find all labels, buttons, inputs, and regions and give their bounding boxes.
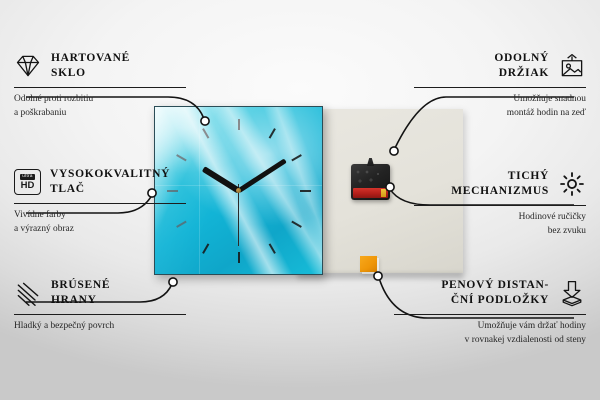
clock-tick bbox=[300, 190, 311, 192]
mechanism-hanger bbox=[364, 158, 377, 166]
picture-hanger-icon bbox=[558, 52, 586, 80]
divider bbox=[394, 314, 586, 315]
feature-hardened-glass: HARTOVANÉ SKLO Odolné proti rozbitiu a p… bbox=[14, 50, 186, 120]
feature-header: ODOLNÝ DRŽIAK bbox=[414, 50, 586, 82]
clock-tick bbox=[238, 119, 240, 130]
feature-header: HARTOVANÉ SKLO bbox=[14, 50, 186, 82]
foam-spacer-pad bbox=[360, 256, 377, 272]
feature-description: Odolné proti rozbitiu a poškrabaniu bbox=[14, 93, 186, 120]
infographic-canvas: HARTOVANÉ SKLO Odolné proti rozbitiu a p… bbox=[0, 0, 600, 400]
feature-title: VYSOKOKVALITNÝ TLAČ bbox=[50, 167, 170, 196]
ultra-hd-badge-icon: ultra HD bbox=[14, 169, 41, 195]
feature-title: TICHÝ MECHANIZMUS bbox=[451, 169, 549, 198]
feature-header: ultra HD VYSOKOKVALITNÝ TLAČ bbox=[14, 166, 186, 198]
feature-description: Vivídne farby a výrazný obraz bbox=[14, 209, 186, 236]
gear-icon bbox=[558, 170, 586, 198]
feature-header: BRÚSENÉ HRANY bbox=[14, 277, 186, 309]
feature-foam-spacers: PENOVÝ DISTAN- ČNÍ PODLOŽKY Umožňuje vám… bbox=[394, 277, 586, 347]
feature-description: Umožňuje vám držať hodiny v rovnakej vzd… bbox=[394, 320, 586, 347]
feature-description: Hodinové ručičky bez zvuku bbox=[414, 211, 586, 238]
clock-tick bbox=[238, 252, 240, 263]
battery bbox=[353, 188, 388, 198]
feature-header: PENOVÝ DISTAN- ČNÍ PODLOŽKY bbox=[394, 277, 586, 309]
divider bbox=[414, 205, 586, 206]
feature-description: Umožňuje snadnou montáž hodin na zeď bbox=[414, 93, 586, 120]
diamond-icon bbox=[14, 52, 42, 80]
feature-high-quality-print: ultra HD VYSOKOKVALITNÝ TLAČ Vivídne far… bbox=[14, 166, 186, 236]
clock-mechanism bbox=[351, 164, 390, 200]
feature-title: ODOLNÝ DRŽIAK bbox=[494, 51, 549, 80]
feature-ground-edges: BRÚSENÉ HRANY Hladký a bezpečný povrch bbox=[14, 277, 186, 334]
hands-center-cap bbox=[236, 188, 241, 193]
feature-silent-mechanism: TICHÝ MECHANIZMUS Hodinové ručičky bez z… bbox=[414, 168, 586, 238]
diagonal-lines-icon bbox=[14, 279, 42, 307]
divider bbox=[414, 87, 586, 88]
divider bbox=[14, 87, 186, 88]
feature-title: PENOVÝ DISTAN- ČNÍ PODLOŽKY bbox=[441, 278, 549, 307]
feature-description: Hladký a bezpečný povrch bbox=[14, 320, 186, 333]
divider bbox=[14, 314, 186, 315]
feature-header: TICHÝ MECHANIZMUS bbox=[414, 168, 586, 200]
feature-title: HARTOVANÉ SKLO bbox=[51, 51, 130, 80]
feature-durable-hanger: ODOLNÝ DRŽIAK Umožňuje snadnou montáž ho… bbox=[414, 50, 586, 120]
divider bbox=[14, 203, 186, 204]
feature-title: BRÚSENÉ HRANY bbox=[51, 278, 110, 307]
press-down-pad-icon bbox=[558, 279, 586, 307]
mechanism-dials bbox=[354, 168, 382, 186]
